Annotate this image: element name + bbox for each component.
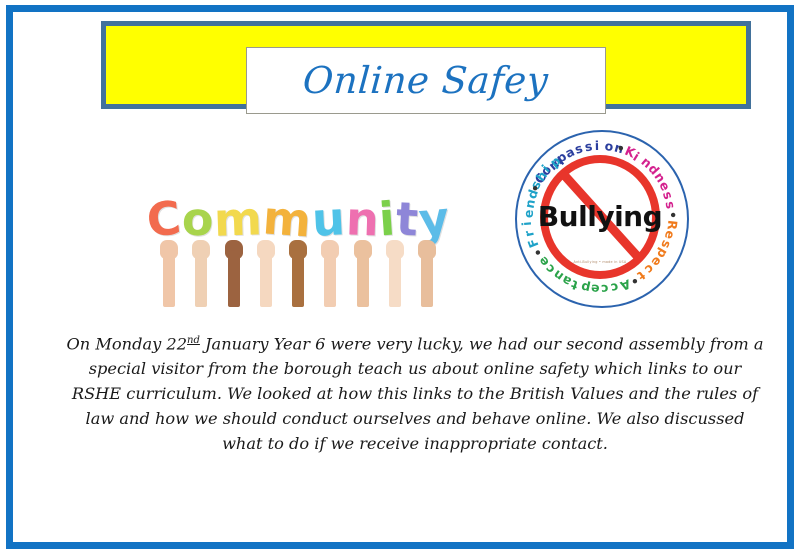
ring-char: c [601, 282, 609, 297]
page-title: Online Safey [302, 62, 550, 99]
raised-hand-4 [288, 234, 308, 307]
raised-hand-3 [256, 234, 276, 307]
paragraph-part-1: On Monday 22 [67, 334, 188, 353]
raised-hand-5 [320, 234, 340, 307]
community-word: Community [153, 174, 443, 242]
community-hands-image: Community [153, 174, 443, 307]
ring-char: s [584, 138, 594, 154]
anti-bullying-badge-image: CompassionKindnessRespectAcceptanceFrien… [507, 124, 693, 310]
raised-hand-6 [353, 234, 373, 307]
title-inner-box: Online Safey [246, 47, 606, 114]
ring-char: i [595, 138, 600, 153]
hands-row [159, 234, 437, 307]
raised-hand-7 [385, 234, 405, 307]
raised-hand-8 [417, 234, 437, 307]
badge-center-word: Bullying [507, 200, 693, 233]
badge-fine-print: Anti-Bullying • made in USA [507, 260, 693, 264]
date-ordinal-suffix: nd [187, 335, 200, 346]
raised-hand-1 [191, 234, 211, 307]
raised-hand-2 [224, 234, 244, 307]
online-safety-page: Online Safey Community CompassionKindnes… [0, 0, 800, 554]
article-paragraph: On Monday 22nd January Year 6 were very … [65, 328, 765, 456]
title-banner: Online Safey [101, 21, 751, 109]
page-outer-border: Online Safey Community CompassionKindnes… [6, 5, 794, 549]
raised-hand-0 [159, 234, 179, 307]
images-row: Community CompassionKindnessRespectAccep… [27, 116, 787, 316]
ring-char: e [590, 282, 600, 298]
